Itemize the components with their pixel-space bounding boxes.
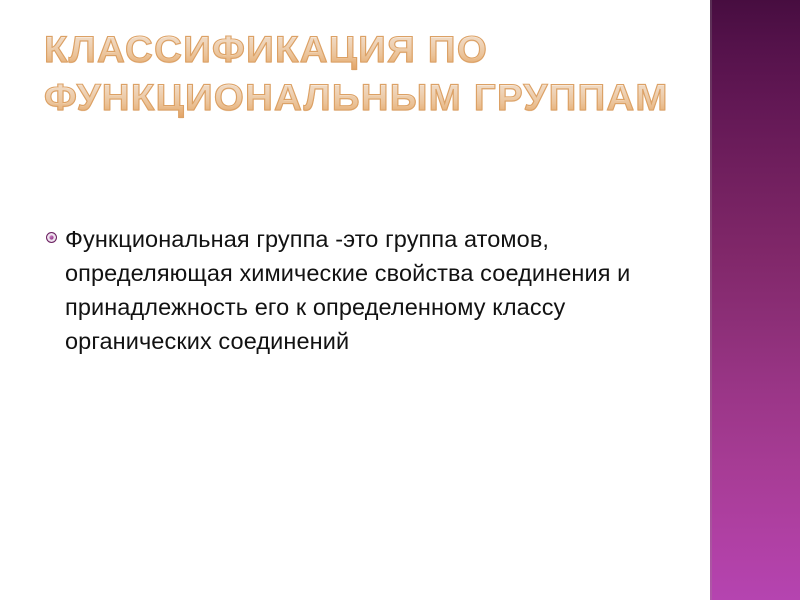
slide-title: КЛАССИФИКАЦИЯ ПО ФУНКЦИОНАЛЬНЫМ ГРУППАМ [44, 28, 664, 120]
slide-title-line-2: ФУНКЦИОНАЛЬНЫМ ГРУППАМ [44, 76, 689, 120]
slide-canvas: КЛАССИФИКАЦИЯ ПО ФУНКЦИОНАЛЬНЫМ ГРУППАМ … [0, 0, 800, 600]
side-gradient-panel [712, 0, 800, 600]
bullet-list-item: Функциональная группа -это группа атомов… [46, 222, 671, 358]
bullet-item-text: Функциональная группа -это группа атомов… [65, 222, 671, 358]
slide-title-line-1: КЛАССИФИКАЦИЯ ПО [44, 28, 689, 72]
slide-body: Функциональная группа -это группа атомов… [46, 222, 671, 358]
purple-ring-bullet-icon [46, 232, 57, 243]
